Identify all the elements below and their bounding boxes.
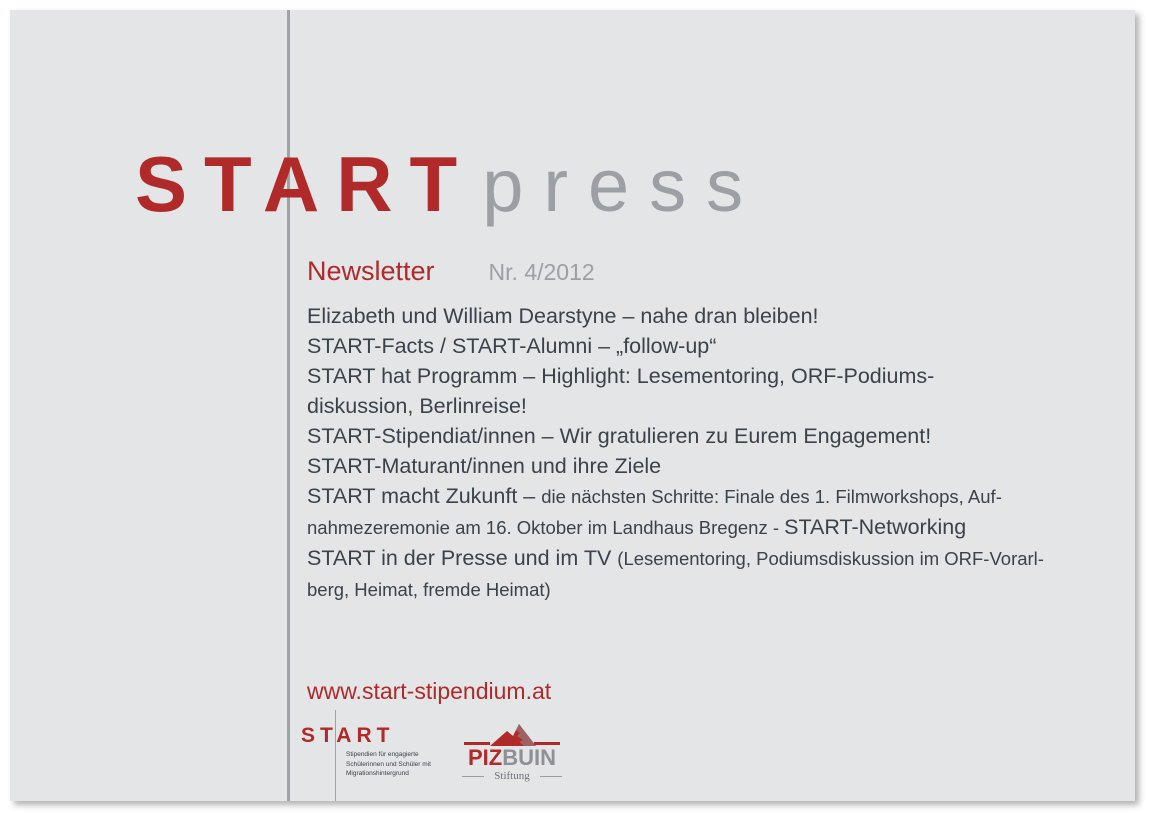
start-logo-tagline: Stipendien für engagierte Schülerinnen u… xyxy=(346,750,441,779)
toc-line-detail: nahmezeremonie am 16. Oktober im Landhau… xyxy=(307,517,784,538)
toc-line: START hat Programm – Highlight: Lesement… xyxy=(307,361,1075,391)
toc-line: berg, Heimat, fremde Heimat) xyxy=(307,574,1075,605)
newsletter-issue-number: Nr. 4/2012 xyxy=(489,259,595,285)
toc-line: START macht Zukunft – die nächsten Schri… xyxy=(307,481,1075,512)
pizbuin-subtitle: Stiftung xyxy=(462,770,562,782)
toc-line: nahmezeremonie am 16. Oktober im Landhau… xyxy=(307,512,1075,543)
start-logo-wordmark: START xyxy=(301,725,436,747)
mountain-peak-icon xyxy=(490,724,536,746)
masthead: STARTpress xyxy=(135,138,763,230)
vertical-divider-rule xyxy=(287,10,290,801)
toc-line: START-Stipendiat/innen – Wir gratulieren… xyxy=(307,421,1075,451)
newsletter-title: Newsletter xyxy=(307,256,435,286)
toc-line: START in der Presse und im TV (Lesemento… xyxy=(307,543,1075,574)
newsletter-header-row: NewsletterNr. 4/2012 xyxy=(307,256,595,287)
toc-line-detail: (Lesementoring, Podiumsdiskussion im ORF… xyxy=(617,548,1044,569)
toc-line-detail: die nächsten Schritte: Finale des 1. Fil… xyxy=(541,486,1002,507)
pizbuin-word-piz: PIZ xyxy=(468,745,502,770)
toc-line: START-Facts / START-Alumni – „follow-up“ xyxy=(307,331,1075,361)
newsletter-page: STARTpress NewsletterNr. 4/2012 Elizabet… xyxy=(10,10,1135,801)
toc-line: Elizabeth und William Dearstyne – nahe d… xyxy=(307,301,1075,331)
toc-line-lead: START macht Zukunft – xyxy=(307,484,541,508)
masthead-brand-start: START xyxy=(135,140,474,228)
pizbuin-stiftung-logo: PIZBUIN Stiftung xyxy=(462,724,562,786)
toc-line-detail: berg, Heimat, fremde Heimat) xyxy=(307,579,551,600)
masthead-brand-press: press xyxy=(482,144,763,227)
pizbuin-word-buin: BUIN xyxy=(502,745,556,770)
start-logo: START Stipendien für engagierte Schüleri… xyxy=(301,725,436,747)
toc-line: diskussion, Berlinreise! xyxy=(307,391,1075,421)
website-url[interactable]: www.start-stipendium.at xyxy=(307,678,551,705)
toc-line-lead: START in der Presse und im TV xyxy=(307,546,617,570)
pizbuin-wordmark: PIZBUIN xyxy=(462,746,562,770)
table-of-contents: Elizabeth und William Dearstyne – nahe d… xyxy=(307,301,1075,605)
toc-line: START-Maturant/innen und ihre Ziele xyxy=(307,451,1075,481)
toc-line-lead: START-Networking xyxy=(784,515,966,539)
